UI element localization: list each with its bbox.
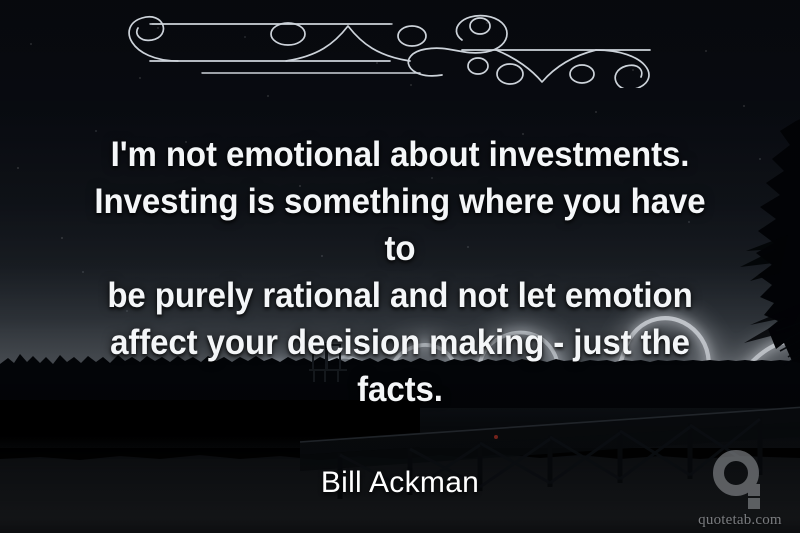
flourish-icon [90, 4, 710, 88]
quote-text: I'm not emotional about investments. Inv… [75, 131, 726, 413]
quote-content: I'm not emotional about investments. Inv… [0, 0, 800, 533]
watermark-site[interactable]: quotetab.com [698, 512, 782, 529]
author-name: Bill Ackman [0, 466, 800, 500]
watermark[interactable]: quotetab.com [688, 437, 792, 529]
quote-line: Investing is something where you have to [75, 178, 726, 272]
quote-line: be purely rational and not let emotion [75, 272, 726, 319]
quote-line: facts. [75, 366, 726, 413]
decorative-flourish [0, 4, 800, 90]
quote-line: affect your decision making - just the [75, 319, 726, 366]
quote-line: I'm not emotional about investments. [75, 131, 726, 178]
quote-card: I'm not emotional about investments. Inv… [0, 0, 800, 533]
quotetab-logo-icon[interactable] [709, 448, 771, 510]
